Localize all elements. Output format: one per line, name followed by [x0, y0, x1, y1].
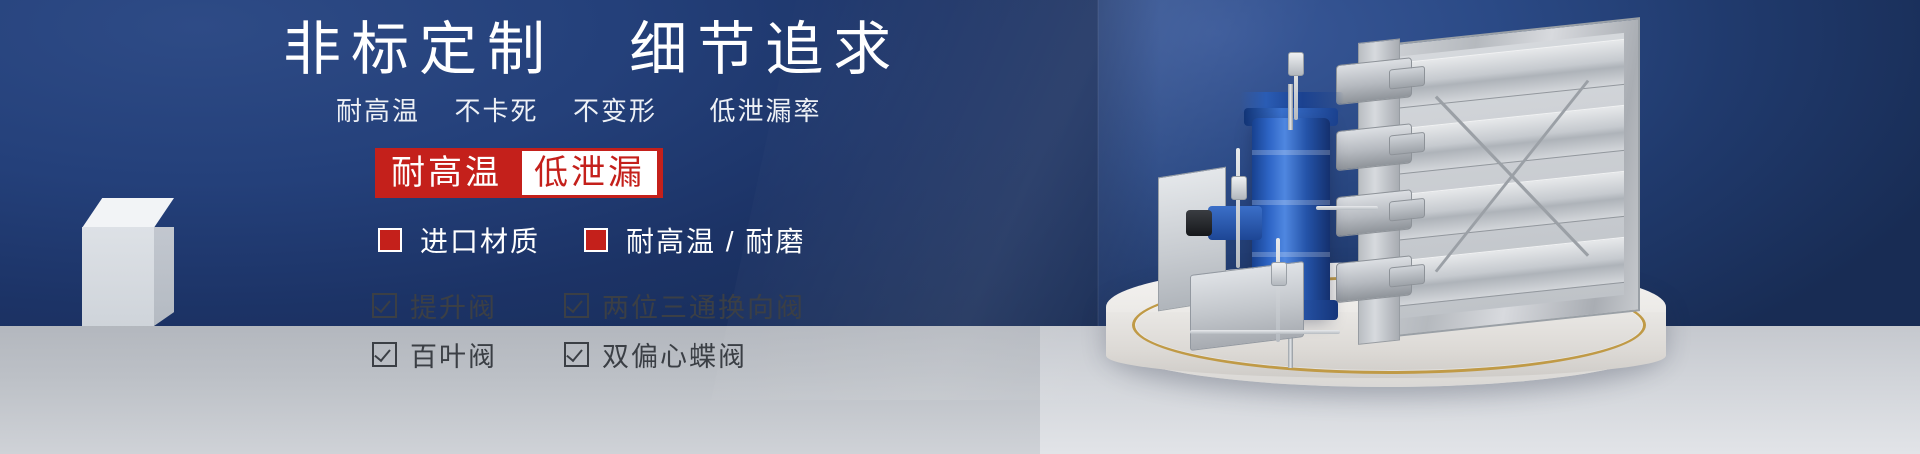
checkbox-checked-icon — [372, 342, 397, 367]
red-square-icon — [378, 228, 402, 252]
promo-banner: 非标定制 细节追求 耐高温 不卡死 不变形 低泄漏率 耐高温 低泄漏 进口材质 … — [0, 0, 1920, 454]
checklist-label: 百叶阀 — [410, 335, 497, 374]
feature-label: 进口材质 — [420, 220, 540, 260]
banner-headline: 非标定制 细节追求 — [283, 14, 883, 86]
tube-fitting — [1271, 262, 1287, 286]
solenoid-valve — [1208, 206, 1262, 240]
shaft-bearing-block — [1336, 189, 1412, 237]
cube-side-face — [154, 227, 174, 326]
badge-primary-label: 耐高温 — [391, 148, 522, 198]
checklist-label: 两位三通换向阀 — [602, 286, 805, 325]
feature-item: 进口材质 — [378, 220, 540, 260]
feature-item: 耐高温 / 耐磨 — [584, 220, 805, 260]
air-tube — [1316, 206, 1378, 210]
air-tube — [1236, 148, 1240, 268]
feature-list: 进口材质 耐高温 / 耐磨 — [378, 220, 849, 260]
white-cube-decoration — [64, 198, 188, 326]
list-item: 提升阀 — [372, 286, 540, 325]
checklist-label: 提升阀 — [410, 286, 497, 325]
highlight-badge: 耐高温 低泄漏 — [375, 148, 663, 198]
subhead-part-4: 低泄漏率 — [709, 96, 821, 126]
tube-fitting — [1231, 176, 1247, 200]
subhead-part-2: 不卡死 — [454, 96, 538, 126]
subhead-part-3: 不变形 — [573, 96, 657, 126]
cube-front-face — [82, 227, 154, 326]
shaft-bearing-block — [1336, 255, 1412, 303]
headline-part-2: 细节追求 — [629, 17, 901, 82]
shaft-bearing-block — [1336, 57, 1412, 105]
cylinder-band — [1252, 200, 1330, 205]
list-item: 百叶阀 — [372, 335, 540, 374]
cylinder-rod — [1288, 84, 1293, 130]
cylinder-band — [1252, 150, 1330, 155]
product-checklist: 提升阀 两位三通换向阀 百叶阀 双偏心蝶阀 — [372, 286, 805, 374]
air-tube — [1190, 330, 1340, 334]
cylinder-band — [1252, 252, 1330, 257]
shaft-bearing-block — [1336, 123, 1412, 171]
checkbox-checked-icon — [564, 293, 589, 318]
list-item: 两位三通换向阀 — [564, 286, 805, 325]
subhead-part-1: 耐高温 — [336, 96, 420, 126]
product-image — [1040, 0, 1920, 454]
air-tube — [1276, 238, 1280, 342]
checklist-label: 双偏心蝶阀 — [602, 335, 747, 374]
cube-top-face — [82, 198, 174, 228]
red-square-icon — [584, 228, 608, 252]
louver-damper-assembly — [1340, 5, 1658, 354]
checkbox-checked-icon — [372, 293, 397, 318]
feature-label: 耐高温 / 耐磨 — [626, 220, 805, 260]
headline-part-1: 非标定制 — [283, 17, 555, 82]
badge-secondary-label: 低泄漏 — [522, 151, 657, 195]
banner-subheadline: 耐高温 不卡死 不变形 低泄漏率 — [336, 94, 896, 128]
checkbox-checked-icon — [564, 342, 589, 367]
list-item: 双偏心蝶阀 — [564, 335, 805, 374]
tube-fitting — [1288, 52, 1304, 76]
